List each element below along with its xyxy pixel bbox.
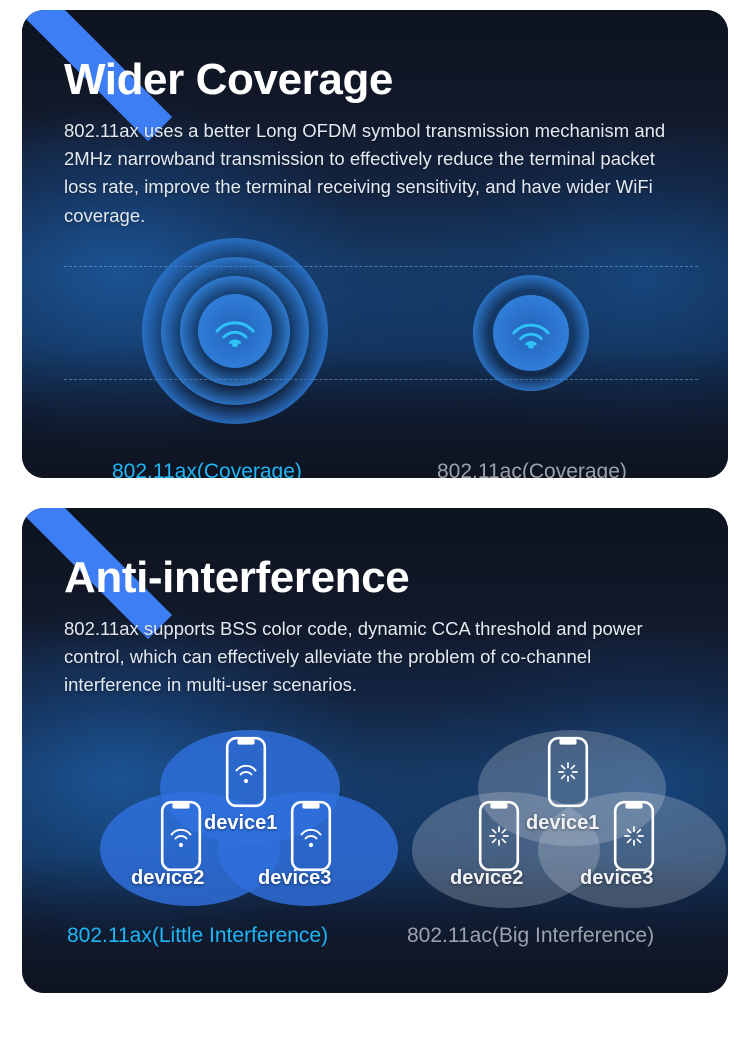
card-wider-coverage: Wider Coverage 802.11ax uses a better Lo… — [22, 10, 728, 478]
device-label: device1 — [526, 812, 599, 835]
interference-figure: device1 device2 device3 — [22, 724, 728, 914]
coverage-legend: 802.11ax(Coverage) 802.11ac(Coverage) — [22, 450, 728, 478]
coverage-figure — [22, 252, 728, 450]
page-root: Wider Coverage 802.11ax uses a better Lo… — [0, 0, 750, 1037]
device-label: device2 — [131, 867, 204, 890]
page-title: Wider Coverage — [64, 10, 686, 103]
venn-group-ac: device1 device2 device3 — [410, 724, 710, 914]
phone-icon — [290, 800, 332, 872]
card-description: 802.11ax uses a better Long OFDM symbol … — [64, 117, 686, 229]
page-title: Anti-interference — [64, 508, 686, 601]
legend-label-ax: 802.11ax(Coverage) — [112, 460, 302, 478]
phone-icon — [613, 800, 655, 872]
device-label: device3 — [580, 867, 653, 890]
guide-line-top — [64, 266, 698, 267]
phone-icon — [478, 800, 520, 872]
loading-spinner-icon — [490, 827, 508, 845]
legend-label-ac: 802.11ac(Coverage) — [437, 460, 627, 478]
phone-icon — [547, 736, 589, 808]
legend-label-ax: 802.11ax(Little Interference) — [67, 924, 328, 948]
wifi-icon — [510, 317, 552, 348]
interference-legend: 802.11ax(Little Interference) 802.11ac(B… — [22, 914, 728, 954]
legend-label-ac: 802.11ac(Big Interference) — [407, 924, 654, 948]
loading-spinner-icon — [625, 827, 643, 845]
card-description: 802.11ax supports BSS color code, dynami… — [64, 615, 686, 699]
coverage-rings-ax — [142, 238, 328, 424]
phone-icon — [160, 800, 202, 872]
coverage-rings-ac — [473, 275, 589, 391]
wifi-icon — [213, 315, 257, 347]
card-content: Wider Coverage 802.11ax uses a better Lo… — [22, 10, 728, 230]
device-label: device2 — [450, 867, 523, 890]
card-content: Anti-interference 802.11ax supports BSS … — [22, 508, 728, 700]
venn-group-ax: device1 device2 device3 — [100, 724, 390, 914]
loading-spinner-icon — [559, 763, 577, 781]
device-label: device1 — [204, 812, 277, 835]
card-anti-interference: Anti-interference 802.11ax supports BSS … — [22, 508, 728, 993]
device-label: device3 — [258, 867, 331, 890]
phone-icon — [225, 736, 267, 808]
